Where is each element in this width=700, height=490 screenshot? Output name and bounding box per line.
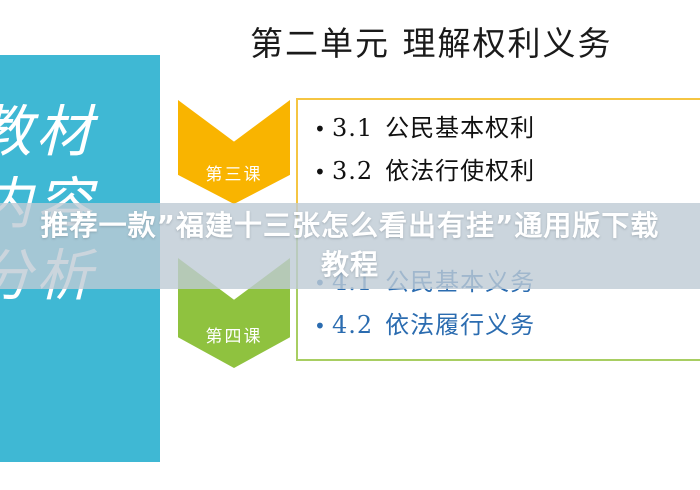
list-item-number: 3.2 bbox=[332, 155, 373, 188]
list-item-label: 依法履行义务 bbox=[385, 309, 535, 342]
list-item: • 3.2 依法行使权利 bbox=[314, 155, 694, 189]
page-title: 第二单元 理解权利义务 bbox=[250, 22, 670, 66]
list-item: • 4.2 依法履行义务 bbox=[314, 309, 694, 343]
bullet-dot-icon: • bbox=[314, 113, 332, 146]
chevron-lesson-3: 第三课 bbox=[178, 100, 290, 204]
bullet-dot-icon: • bbox=[314, 310, 332, 343]
list-item-number: 4.2 bbox=[332, 309, 373, 342]
bullet-dot-icon: • bbox=[314, 156, 332, 189]
list-item: • 3.1 公民基本权利 bbox=[314, 112, 694, 146]
list-item-label: 依法行使权利 bbox=[385, 155, 535, 188]
list-item-label: 公民基本权利 bbox=[385, 112, 535, 145]
chevron-lesson-4-label: 第四课 bbox=[178, 322, 290, 347]
panel-divider-top bbox=[296, 98, 700, 100]
watermark-text: 推荐一款”福建十三张怎么看出有挂”通用版下载教程 bbox=[0, 206, 700, 284]
panel-divider-bottom bbox=[296, 359, 700, 361]
list-item-number: 3.1 bbox=[332, 112, 373, 145]
bullet-list-lesson-3: • 3.1 公民基本权利 • 3.2 依法行使权利 bbox=[314, 112, 694, 198]
presentation-slide: 第二单元 理解权利义务 教材 内容 分析 第三课 第四课 • 3.1 公民基本权… bbox=[0, 0, 700, 490]
chevron-lesson-3-label: 第三课 bbox=[178, 160, 290, 185]
